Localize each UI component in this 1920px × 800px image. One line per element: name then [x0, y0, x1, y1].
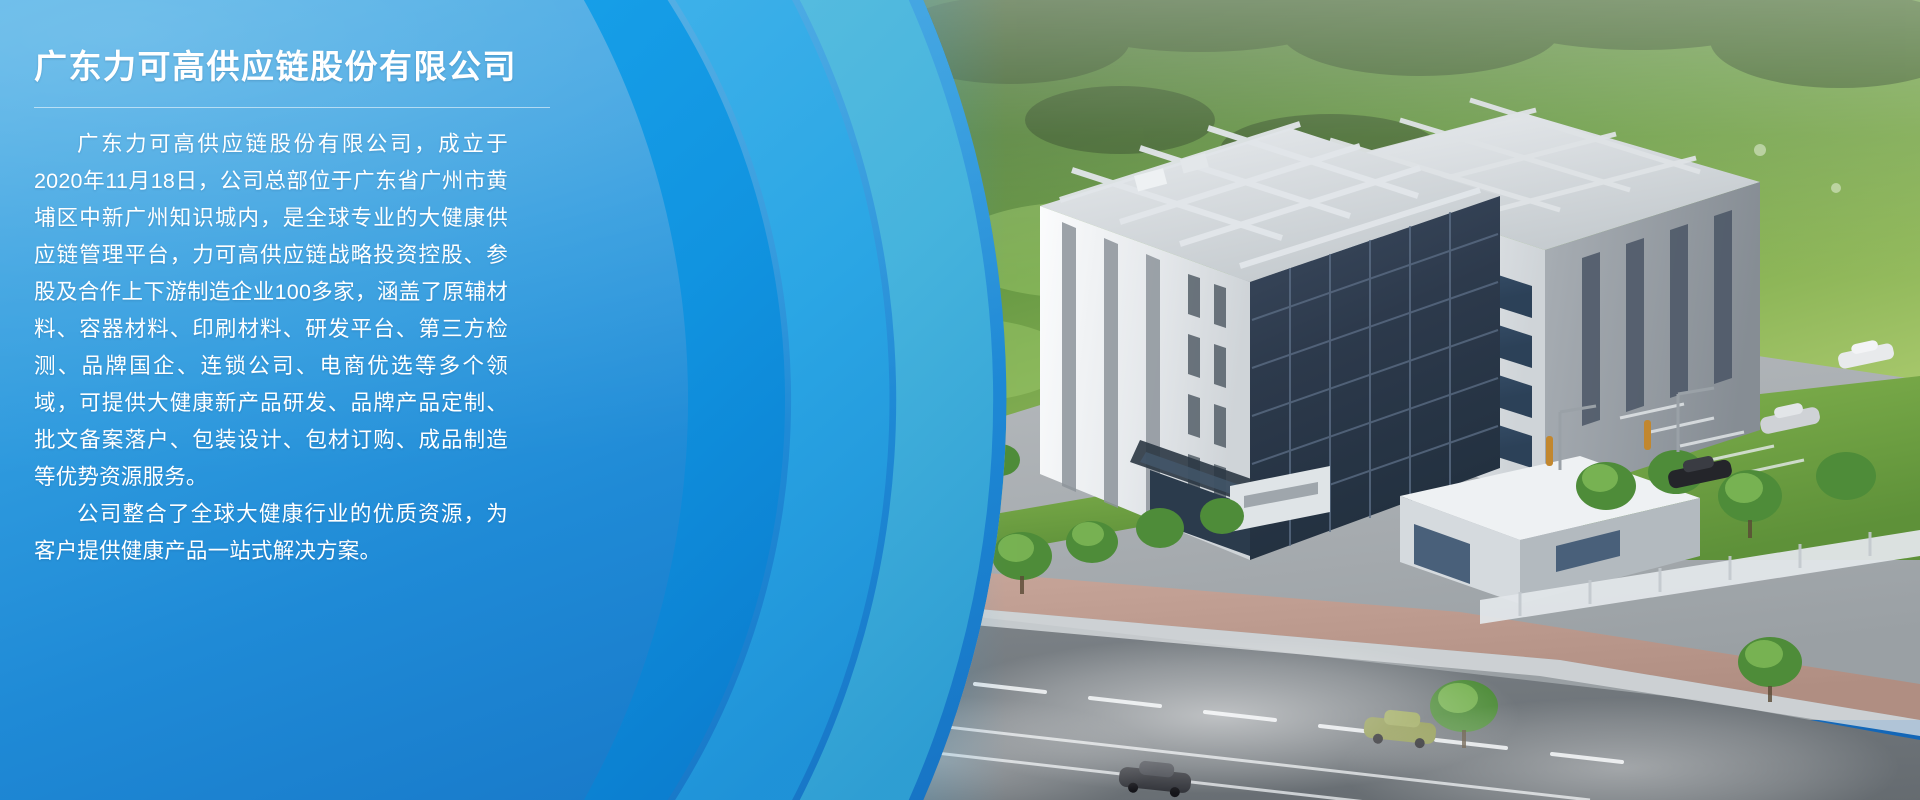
company-description: 广东力可高供应链股份有限公司，成立于2020年11月18日，公司总部位于广东省广…	[34, 126, 508, 570]
description-paragraph-1: 广东力可高供应链股份有限公司，成立于2020年11月18日，公司总部位于广东省广…	[34, 126, 508, 496]
title-divider	[34, 107, 550, 108]
company-profile-panel: 广东力可高供应链股份有限公司 广东力可高供应链股份有限公司，成立于2020年11…	[34, 46, 554, 570]
page-title: 广东力可高供应链股份有限公司	[34, 46, 554, 87]
description-paragraph-2: 公司整合了全球大健康行业的优质资源，为客户提供健康产品一站式解决方案。	[34, 496, 508, 570]
banner-stage: 广东力可高供应链股份有限公司 广东力可高供应链股份有限公司，成立于2020年11…	[0, 0, 1920, 800]
